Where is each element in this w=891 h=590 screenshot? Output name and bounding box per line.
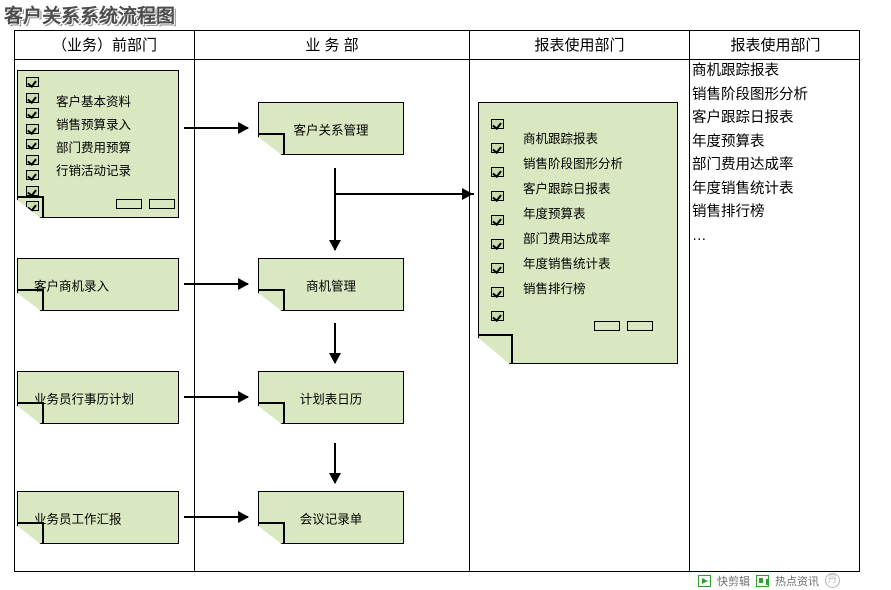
report-doc-items: 商机跟踪报表 销售阶段图形分析 客户跟踪日报表 年度预算表 部门费用达成率 年度… (523, 127, 623, 302)
node-salesperson-calendar-plan[interactable]: 业务员行事历计划 (17, 371, 179, 424)
check-icon (491, 311, 504, 321)
check-icon (491, 215, 504, 225)
arrow-opportunity-to-schedule (334, 323, 336, 363)
fold-diagonal (511, 335, 513, 364)
list-item: 年度预算表 (523, 202, 623, 227)
quick-clip-icon[interactable] (698, 575, 711, 587)
check-icon (26, 93, 39, 103)
node-meeting-minutes[interactable]: 会议记录单 (258, 491, 404, 544)
list-item: 年度预算表 (692, 131, 808, 155)
list-item: 销售阶段图形分析 (692, 84, 808, 108)
checkbox-column (26, 77, 39, 211)
column-header-front-dept: （业务）前部门 (15, 31, 194, 60)
fold-line (258, 402, 285, 404)
check-icon (26, 139, 39, 149)
fold-line (17, 402, 44, 404)
check-icon (491, 239, 504, 249)
node-label: 业务员行事历计划 (34, 388, 178, 407)
arrow-opportunity-entry-to-management (184, 283, 248, 285)
list-item: 部门费用达成率 (523, 227, 623, 252)
mini-button[interactable] (149, 199, 175, 209)
fold-diagonal (283, 403, 285, 424)
check-icon (491, 263, 504, 273)
list-item: 客户跟踪日报表 (523, 177, 623, 202)
list-item: 客户基本资料 (56, 91, 131, 114)
fold-corner-icon (477, 337, 511, 365)
fold-diagonal (283, 290, 285, 311)
check-icon (491, 191, 504, 201)
column-divider-1 (194, 31, 195, 571)
check-icon (491, 287, 504, 297)
quick-clip-label[interactable]: 快剪辑 (717, 573, 750, 589)
fold-line (17, 522, 44, 524)
fold-diagonal (283, 523, 285, 544)
fold-line (17, 196, 44, 198)
check-icon (26, 108, 39, 118)
fold-line (258, 133, 285, 135)
arrow-calendar-plan-to-schedule (184, 396, 248, 398)
fold-corner-icon (16, 525, 42, 545)
node-schedule-calendar[interactable]: 计划表日历 (258, 371, 404, 424)
fold-line (17, 289, 44, 291)
fold-corner-icon (16, 292, 42, 312)
node-crm-management[interactable]: 客户关系管理 (258, 102, 404, 155)
list-item: 部门费用预算 (56, 137, 131, 160)
fold-diagonal (42, 290, 44, 311)
fold-line (258, 522, 285, 524)
node-customer-opportunity-entry[interactable]: 客户商机录入 (17, 258, 179, 311)
fold-line (258, 289, 285, 291)
list-item: 销售阶段图形分析 (523, 152, 623, 177)
fold-corner-icon (16, 199, 42, 219)
list-item: 部门费用达成率 (692, 154, 808, 178)
watermark-toolbar[interactable]: 快剪辑 热点资讯 丹 (698, 571, 891, 590)
list-item: 销售预算录入 (56, 114, 131, 137)
fold-corner-icon (16, 405, 42, 425)
column-header-report-dept-1: 报表使用部门 (470, 31, 689, 60)
list-item: 年度销售统计表 (523, 252, 623, 277)
fold-diagonal (42, 403, 44, 424)
fold-diagonal (283, 134, 285, 155)
report-list-text: 商机跟踪报表 销售阶段图形分析 客户跟踪日报表 年度预算表 部门费用达成率 年度… (692, 60, 808, 248)
fold-corner-icon (257, 136, 283, 156)
column-header-report-dept-2: 报表使用部门 (690, 31, 861, 60)
list-item-ellipsis: … (692, 225, 808, 249)
check-icon (26, 124, 39, 134)
list-item: 销售排行榜 (692, 201, 808, 225)
check-icon (26, 155, 39, 165)
check-icon (26, 77, 39, 87)
column-divider-2 (469, 31, 470, 571)
mini-button[interactable] (594, 321, 620, 331)
checkbox-column (491, 119, 504, 321)
column-header-business-dept: 业 务 部 (195, 31, 469, 60)
node-salesperson-work-report[interactable]: 业务员工作汇报 (17, 491, 179, 544)
node-input-document[interactable]: 客户基本资料 销售预算录入 部门费用预算 行销活动记录 (17, 70, 179, 218)
node-opportunity-management[interactable]: 商机管理 (258, 258, 404, 311)
list-item: 销售排行榜 (523, 277, 623, 302)
fold-corner-icon (257, 525, 283, 545)
fold-corner-icon (257, 292, 283, 312)
check-icon (26, 170, 39, 180)
fold-diagonal (42, 197, 44, 218)
node-label: 业务员工作汇报 (34, 508, 178, 527)
arrow-schedule-to-meeting (334, 443, 336, 483)
list-item: 行销活动记录 (56, 160, 131, 183)
check-icon (491, 143, 504, 153)
hot-news-label[interactable]: 热点资讯 (775, 573, 819, 589)
node-label: 客户商机录入 (34, 275, 178, 294)
list-item: 商机跟踪报表 (692, 60, 808, 84)
list-item: 商机跟踪报表 (523, 127, 623, 152)
hot-news-icon[interactable] (756, 575, 769, 587)
fold-diagonal (42, 523, 44, 544)
arrow-crm-to-opportunity (334, 168, 336, 250)
fold-corner-icon (257, 405, 283, 425)
doc-button-bar[interactable] (594, 321, 653, 331)
check-icon (26, 186, 39, 196)
list-item: 客户跟踪日报表 (692, 107, 808, 131)
watermark-logo-icon: 丹 (825, 573, 840, 588)
input-doc-items: 客户基本资料 销售预算录入 部门费用预算 行销活动记录 (56, 91, 131, 183)
check-icon (491, 119, 504, 129)
node-report-document[interactable]: 商机跟踪报表 销售阶段图形分析 客户跟踪日报表 年度预算表 部门费用达成率 年度… (478, 102, 678, 364)
arrow-work-report-to-meeting (184, 516, 248, 518)
arrow-input-to-crm (184, 127, 248, 129)
page-title: 客户关系系统流程图 (4, 1, 175, 28)
doc-button-bar[interactable] (116, 199, 175, 209)
list-item: 年度销售统计表 (692, 178, 808, 202)
fold-line (478, 334, 513, 336)
mini-button[interactable] (627, 321, 653, 331)
mini-button[interactable] (116, 199, 142, 209)
arrow-to-report-document (334, 193, 472, 195)
check-icon (491, 167, 504, 177)
column-divider-3 (689, 31, 690, 571)
